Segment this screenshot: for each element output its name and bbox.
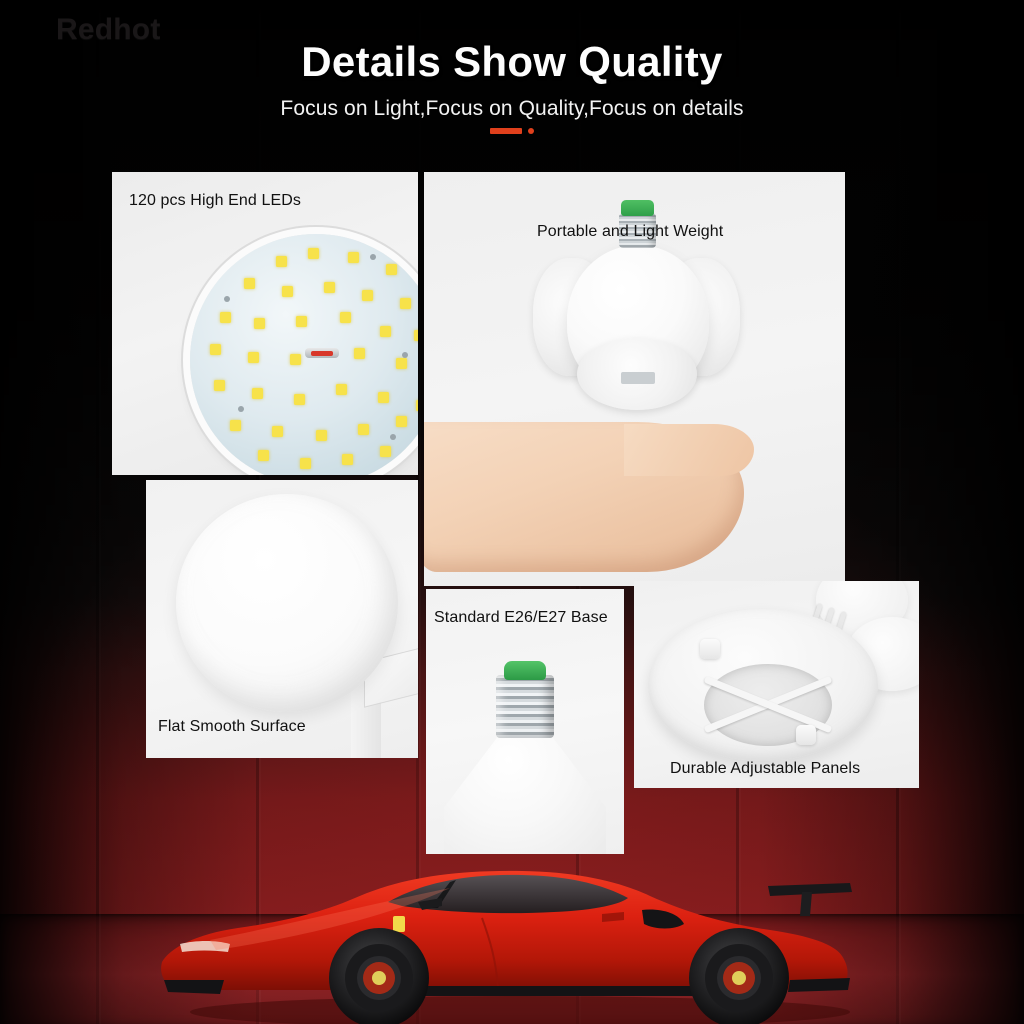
feature-panel-adjustable: Durable Adjustable Panels xyxy=(634,581,919,788)
e27-green-contact xyxy=(504,661,546,680)
e27-base-photo xyxy=(426,589,624,854)
feature-panel-flat-surface: Flat Smooth Surface xyxy=(146,480,418,758)
adjustable-panels-photo xyxy=(634,581,919,788)
panel-caption: Durable Adjustable Panels xyxy=(670,760,860,778)
panel-caption: Standard E26/E27 Base xyxy=(434,609,608,627)
disc-nub-bottom xyxy=(796,725,816,745)
product-detail-image: Redhot Details Show Quality Focus on Lig… xyxy=(0,0,1024,1024)
page-title: Details Show Quality xyxy=(0,38,1024,86)
e27-screw-thread xyxy=(496,675,554,738)
panel-caption: 120 pcs High End LEDs xyxy=(129,192,301,210)
led-center-wire xyxy=(305,346,339,360)
feature-panel-portable: Portable and Light Weight xyxy=(424,172,845,586)
bulb-body xyxy=(444,735,606,854)
page-subtitle: Focus on Light,Focus on Quality,Focus on… xyxy=(0,97,1024,121)
panel-disc xyxy=(648,609,878,761)
panel-caption: Flat Smooth Surface xyxy=(158,718,306,736)
disc-nub-top xyxy=(700,639,720,659)
divider-dot xyxy=(528,128,534,134)
title-divider xyxy=(0,126,1024,136)
led-board-icon xyxy=(190,234,418,475)
feature-panel-base: Standard E26/E27 Base xyxy=(426,589,624,854)
divider-dash xyxy=(490,128,522,134)
sports-car-image xyxy=(150,830,880,1024)
flat-surface-photo xyxy=(146,480,418,758)
bulb-dome xyxy=(176,494,398,712)
hand-fingers xyxy=(624,424,754,476)
bulb-green-tip xyxy=(621,200,654,216)
feature-panel-leds: 120 pcs High End LEDs xyxy=(112,172,418,475)
sports-car-svg xyxy=(150,830,880,1024)
panel-caption: Portable and Light Weight xyxy=(537,223,723,241)
led-board-photo xyxy=(112,172,418,475)
